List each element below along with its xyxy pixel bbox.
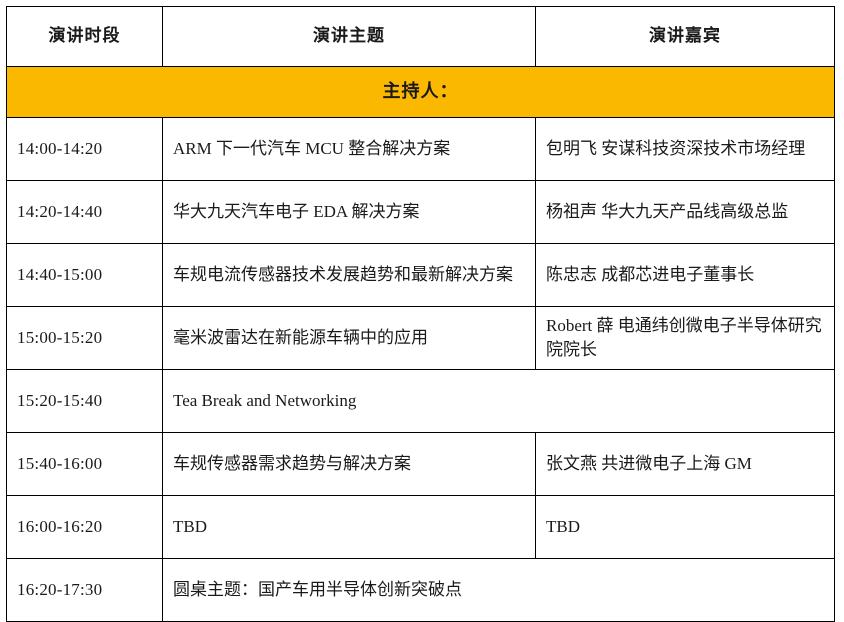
cell-topic: TBD (163, 496, 536, 559)
cell-time: 15:40-16:00 (7, 433, 163, 496)
column-header-time: 演讲时段 (7, 7, 163, 67)
cell-time: 15:00-15:20 (7, 307, 163, 370)
cell-guest: 张文燕 共进微电子上海 GM (536, 433, 835, 496)
table-body: 主持人： 14:00-14:20ARM 下一代汽车 MCU 整合解决方案包明飞 … (7, 67, 835, 622)
header-row: 演讲时段 演讲主题 演讲嘉宾 (7, 7, 835, 67)
cell-topic: 车规传感器需求趋势与解决方案 (163, 433, 536, 496)
cell-topic: 圆桌主题：国产车用半导体创新突破点 (163, 559, 835, 622)
cell-time: 14:00-14:20 (7, 118, 163, 181)
cell-topic: 车规电流传感器技术发展趋势和最新解决方案 (163, 244, 536, 307)
cell-time: 16:20-17:30 (7, 559, 163, 622)
agenda-table: 演讲时段 演讲主题 演讲嘉宾 主持人： 14:00-14:20ARM 下一代汽车… (6, 6, 835, 622)
table-row: 14:00-14:20ARM 下一代汽车 MCU 整合解决方案包明飞 安谋科技资… (7, 118, 835, 181)
column-header-guest: 演讲嘉宾 (536, 7, 835, 67)
cell-time: 15:20-15:40 (7, 370, 163, 433)
cell-time: 16:00-16:20 (7, 496, 163, 559)
cell-topic: Tea Break and Networking (163, 370, 835, 433)
cell-guest: TBD (536, 496, 835, 559)
cell-topic: ARM 下一代汽车 MCU 整合解决方案 (163, 118, 536, 181)
table-row: 15:40-16:00车规传感器需求趋势与解决方案张文燕 共进微电子上海 GM (7, 433, 835, 496)
cell-topic: 毫米波雷达在新能源车辆中的应用 (163, 307, 536, 370)
table-row: 16:20-17:30圆桌主题：国产车用半导体创新突破点 (7, 559, 835, 622)
cell-guest: 陈忠志 成都芯进电子董事长 (536, 244, 835, 307)
column-header-topic: 演讲主题 (163, 7, 536, 67)
cell-guest: Robert 薛 电通纬创微电子半导体研究院院长 (536, 307, 835, 370)
table-header: 演讲时段 演讲主题 演讲嘉宾 (7, 7, 835, 67)
agenda-page: 演讲时段 演讲主题 演讲嘉宾 主持人： 14:00-14:20ARM 下一代汽车… (0, 0, 844, 540)
host-label: 主持人： (7, 67, 835, 118)
cell-time: 14:40-15:00 (7, 244, 163, 307)
table-row: 15:00-15:20毫米波雷达在新能源车辆中的应用Robert 薛 电通纬创微… (7, 307, 835, 370)
table-row: 15:20-15:40Tea Break and Networking (7, 370, 835, 433)
table-row: 14:40-15:00车规电流传感器技术发展趋势和最新解决方案陈忠志 成都芯进电… (7, 244, 835, 307)
cell-guest: 杨祖声 华大九天产品线高级总监 (536, 181, 835, 244)
host-row: 主持人： (7, 67, 835, 118)
cell-guest: 包明飞 安谋科技资深技术市场经理 (536, 118, 835, 181)
table-row: 14:20-14:40华大九天汽车电子 EDA 解决方案杨祖声 华大九天产品线高… (7, 181, 835, 244)
cell-topic: 华大九天汽车电子 EDA 解决方案 (163, 181, 536, 244)
cell-time: 14:20-14:40 (7, 181, 163, 244)
table-row: 16:00-16:20TBDTBD (7, 496, 835, 559)
